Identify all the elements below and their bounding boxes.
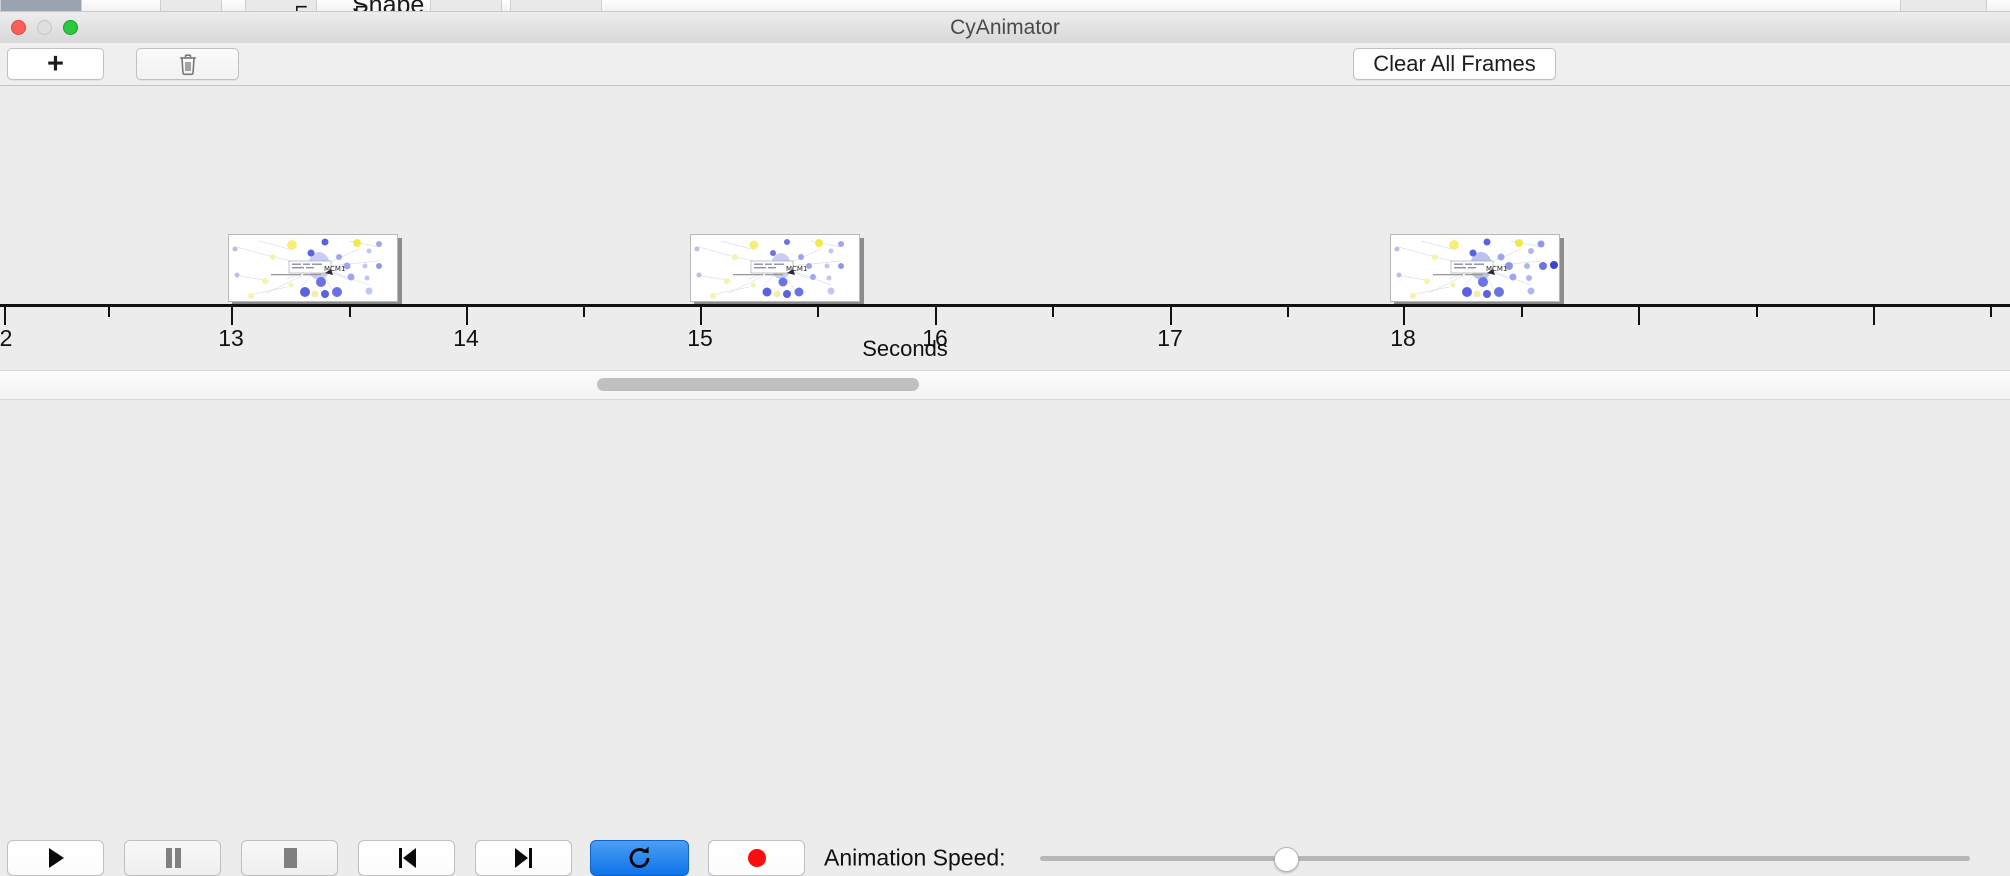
keyframe-thumbnail-3[interactable]: MCM1 xyxy=(1390,234,1560,302)
ruler-tick-major xyxy=(935,307,937,325)
timeline-panel[interactable]: MCM1 xyxy=(0,86,2010,306)
clear-all-frames-label: Clear All Frames xyxy=(1373,51,1536,77)
ruler-tick-minor xyxy=(1990,307,1992,317)
timeline-horizontal-scrollbar[interactable] xyxy=(0,370,2010,400)
add-frame-button[interactable]: + xyxy=(7,48,104,80)
keyframe-thumbnail-1[interactable]: MCM1 xyxy=(228,234,398,302)
ruler-tick-major xyxy=(1170,307,1172,325)
ruler-tick-minor xyxy=(1521,307,1523,317)
axis-title-text: Seconds xyxy=(862,336,948,361)
keyframe-thumbnail-2[interactable]: MCM1 xyxy=(690,234,860,302)
timeline-axis-title: Seconds xyxy=(0,336,2010,362)
ruler-tick-major xyxy=(1403,307,1405,325)
stop-button[interactable] xyxy=(241,840,338,876)
record-button[interactable] xyxy=(708,840,805,876)
ruler-tick-major xyxy=(1873,307,1875,325)
ruler-tick-minor xyxy=(1287,307,1289,317)
clear-all-frames-button[interactable]: Clear All Frames xyxy=(1353,48,1556,80)
first-frame-button[interactable] xyxy=(358,840,455,876)
play-button[interactable] xyxy=(7,840,104,876)
trash-icon xyxy=(178,53,198,76)
loop-icon xyxy=(627,845,653,871)
ruler-tick-minor xyxy=(1052,307,1054,317)
loop-button[interactable] xyxy=(590,840,689,876)
pause-button[interactable] xyxy=(124,840,221,876)
slider-knob[interactable] xyxy=(1274,847,1299,872)
window-title: CyAnimator xyxy=(0,12,2010,43)
playback-control-bar: Animation Speed: xyxy=(0,399,2010,511)
scrollbar-thumb[interactable] xyxy=(597,378,919,391)
ruler-tick-major xyxy=(700,307,702,325)
delete-frame-button[interactable] xyxy=(136,48,239,80)
network-graph-thumbnail: MCM1 xyxy=(1391,235,1559,301)
ruler-tick-major xyxy=(4,307,6,325)
cyanimator-window: ⌐ ⌐ Shape CyAnimator + xyxy=(0,0,2010,510)
thumbnail-card: MCM1 xyxy=(228,234,398,302)
pause-icon xyxy=(163,846,183,870)
ruler-tick-minor xyxy=(349,307,351,317)
animation-speed-slider[interactable] xyxy=(1040,847,1970,869)
last-frame-button[interactable] xyxy=(475,840,572,876)
network-graph-thumbnail: MCM1 xyxy=(229,235,397,301)
ruler-tick-minor xyxy=(1756,307,1758,317)
ruler-tick-major xyxy=(1638,307,1640,325)
ruler-tick-minor xyxy=(583,307,585,317)
svg-text:MCM1: MCM1 xyxy=(1486,265,1507,273)
skip-back-icon xyxy=(395,846,419,870)
ruler-baseline xyxy=(0,304,2010,307)
record-icon xyxy=(745,846,769,870)
skip-forward-icon xyxy=(512,846,536,870)
ruler-tick-major xyxy=(231,307,233,325)
ruler-tick-major xyxy=(466,307,468,325)
svg-text:MCM1: MCM1 xyxy=(786,265,807,273)
stop-icon xyxy=(280,846,300,870)
toolbar: + Clear All Frames xyxy=(0,43,2010,86)
play-icon xyxy=(45,846,67,870)
slider-track[interactable] xyxy=(1040,856,1970,861)
ruler-tick-minor xyxy=(817,307,819,317)
network-graph-thumbnail: MCM1 xyxy=(691,235,859,301)
title-bar: CyAnimator xyxy=(0,12,2010,44)
animation-speed-label: Animation Speed: xyxy=(824,845,1006,872)
ruler-tick-minor xyxy=(108,307,110,317)
svg-text:MCM1: MCM1 xyxy=(324,265,345,273)
thumbnail-card: MCM1 xyxy=(1390,234,1560,302)
thumbnail-card: MCM1 xyxy=(690,234,860,302)
